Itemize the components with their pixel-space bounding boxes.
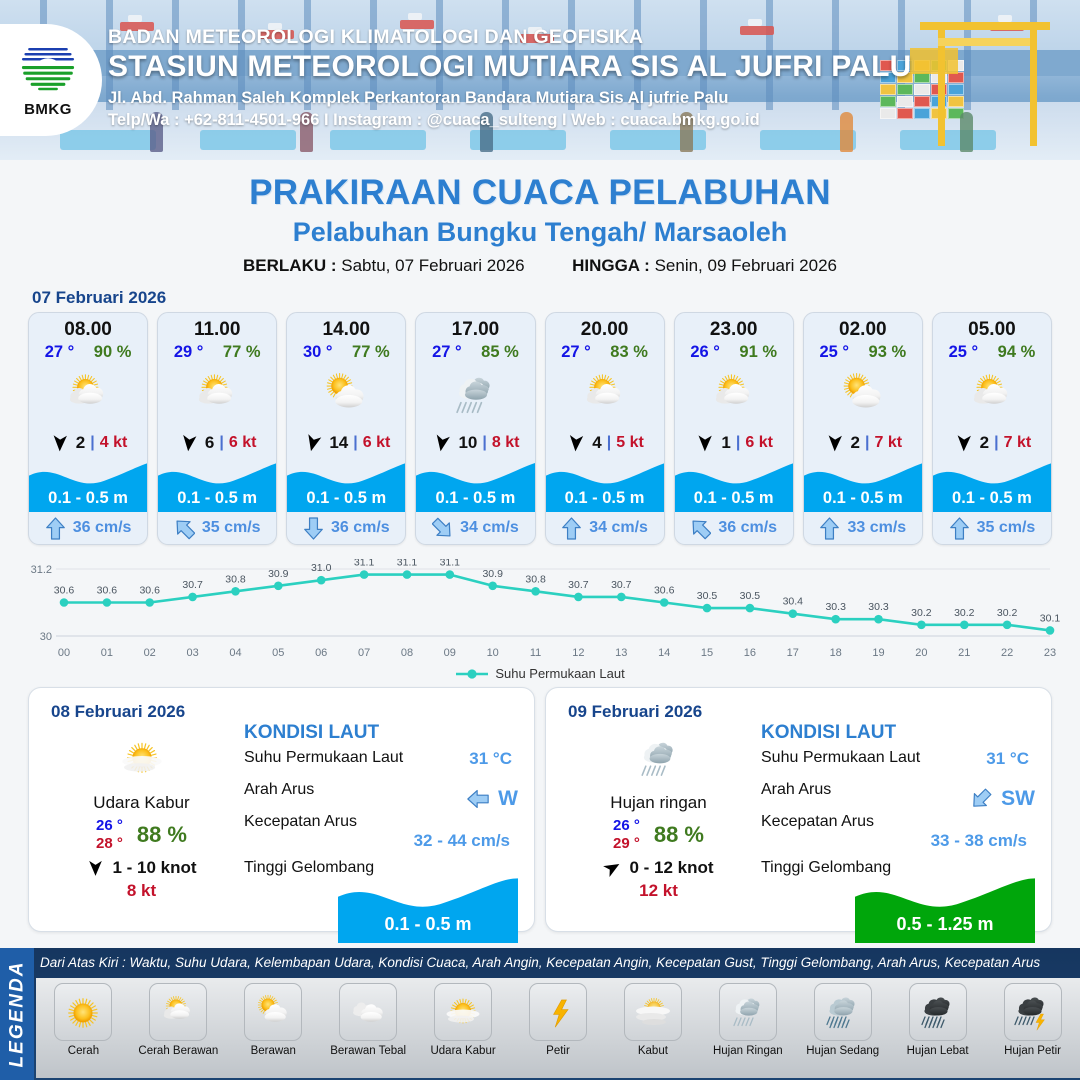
card-wind-direction-value: 6 [205, 433, 214, 453]
card-humidity: 77 % [352, 343, 390, 362]
legend-icon-box [1004, 983, 1062, 1041]
card-humidity: 91 % [739, 343, 777, 362]
svg-text:30.7: 30.7 [568, 579, 589, 591]
legend-icon-box [529, 983, 587, 1041]
current-direction-arrow-icon [819, 517, 840, 540]
svg-text:30.6: 30.6 [139, 585, 160, 597]
card-temp-hum-row: 26 ° 91 % [675, 341, 793, 362]
panel-current-direction-label: Arah Arus [244, 781, 314, 798]
card-current-speed: 36 cm/s [73, 519, 132, 537]
weather-icon-berawan [831, 363, 895, 427]
legend-item: Hujan Ringan [700, 978, 795, 1078]
card-separator: | [736, 434, 740, 452]
card-separator: | [607, 434, 611, 452]
weather-icon-cerah [58, 987, 108, 1037]
svg-text:31.0: 31.0 [311, 562, 332, 574]
weather-icon-petir [533, 987, 583, 1037]
card-time: 17.00 [416, 313, 534, 341]
card-gust-speed: 8 kt [492, 434, 520, 452]
card-current-speed: 34 cm/s [460, 519, 519, 537]
svg-text:10: 10 [487, 647, 499, 659]
legend-item-label: Cerah Berawan [138, 1045, 218, 1057]
panel-wind-row: 0 - 12 knot [556, 858, 761, 878]
card-wave-block: 0.1 - 0.5 m [675, 460, 793, 512]
panel-wave-value: 0.5 - 1.25 m [855, 914, 1035, 935]
panel-wave-block: 0.1 - 0.5 m [338, 877, 518, 943]
panel-wave-label: Tinggi Gelombang [761, 859, 891, 876]
card-wind-row: 2 | 7 kt [933, 428, 1051, 458]
svg-text:31.1: 31.1 [440, 559, 461, 569]
panel-sst-value: 31 °C [986, 749, 1029, 769]
chart-legend-label: Suhu Permukaan Laut [495, 666, 624, 681]
current-direction-arrow-icon [303, 517, 324, 540]
legend-side-tab: LEGENDA [0, 948, 34, 1080]
panel-sst-row: Suhu Permukaan Laut 31 °C [761, 749, 1041, 781]
page-title: PRAKIRAAN CUACA PELABUHAN [0, 173, 1080, 213]
legend-item: Hujan Lebat [890, 978, 985, 1078]
svg-text:30.5: 30.5 [740, 590, 761, 602]
legend-icon-box [244, 983, 302, 1041]
legend-item-label: Berawan Tebal [330, 1045, 406, 1057]
card-weather-icon [29, 362, 147, 428]
panel-humidity: 88 % [137, 822, 187, 848]
card-wind-row: 2 | 4 kt [29, 428, 147, 458]
panel-current-direction-row: Arah Arus W [244, 781, 524, 813]
panel-temp-max: 29 ° [613, 835, 640, 853]
legend-bar: LEGENDA Dari Atas Kiri : Waktu, Suhu Uda… [0, 948, 1080, 1080]
legend-icon-box [624, 983, 682, 1041]
panel-wind-row: 1 - 10 knot [39, 858, 244, 878]
card-wind-direction-value: 1 [721, 433, 730, 453]
card-wind-direction-value: 2 [851, 433, 860, 453]
card-wave-height: 0.1 - 0.5 m [158, 489, 276, 508]
card-wave-block: 0.1 - 0.5 m [933, 460, 1051, 512]
panel-condition: Hujan ringan [556, 793, 761, 813]
wind-direction-arrow-icon [824, 433, 846, 453]
card-wave-block: 0.1 - 0.5 m [804, 460, 922, 512]
card-current-row: 35 cm/s [933, 512, 1051, 544]
card-wind-direction-value: 14 [329, 433, 348, 453]
card-humidity: 94 % [998, 343, 1036, 362]
legend-icon-box [719, 983, 777, 1041]
daily-forecast-panel[interactable]: 08 Februari 2026 Udara Kabur 26 ° [28, 687, 535, 932]
hingga-label: HINGGA : [572, 256, 650, 275]
card-wind-row: 1 | 6 kt [675, 428, 793, 458]
card-wind-direction-value: 2 [980, 433, 989, 453]
panel-sea-title: KONDISI LAUT [244, 722, 524, 744]
legend-icon-box [54, 983, 112, 1041]
wind-direction-arrow-icon [431, 433, 453, 453]
card-time: 20.00 [546, 313, 664, 341]
panel-current-direction-value: SW [1001, 787, 1035, 811]
card-wave-block: 0.1 - 0.5 m [416, 460, 534, 512]
card-temp-hum-row: 27 ° 90 % [29, 341, 147, 362]
current-direction-arrow-icon [967, 788, 995, 810]
weather-icon-cerah-berawan [185, 363, 249, 427]
panel-wave-label: Tinggi Gelombang [244, 859, 374, 876]
svg-text:01: 01 [101, 647, 113, 659]
svg-text:06: 06 [315, 647, 327, 659]
card-wind-row: 6 | 6 kt [158, 428, 276, 458]
card-wave-block: 0.1 - 0.5 m [29, 460, 147, 512]
card-wave-block: 0.1 - 0.5 m [546, 460, 664, 512]
card-humidity: 85 % [481, 343, 519, 362]
hourly-forecast-card[interactable]: 11.00 29 ° 77 % [157, 312, 277, 545]
validity-row: BERLAKU : Sabtu, 07 Februari 2026 HINGGA… [0, 256, 1080, 276]
wind-direction-arrow-icon [603, 858, 622, 878]
card-weather-icon [287, 362, 405, 428]
weather-icon-hujan-ringan [629, 729, 689, 789]
card-wind-row: 2 | 7 kt [804, 428, 922, 458]
panel-sst-row: Suhu Permukaan Laut 31 °C [244, 749, 524, 781]
panel-left-column: Udara Kabur 26 ° 28 ° 88 % 1 - 10 knot 8… [39, 728, 244, 901]
panel-temp-hum-row: 26 ° 29 ° 88 % [556, 817, 761, 852]
card-temperature: 29 ° [174, 343, 204, 362]
card-current-speed: 35 cm/s [202, 519, 261, 537]
legend-icon-box [909, 983, 967, 1041]
card-gust-speed: 4 kt [100, 434, 128, 452]
weather-icon-berawan [248, 987, 298, 1037]
panel-temp-hum-row: 26 ° 28 ° 88 % [39, 817, 244, 852]
hourly-forecast-card[interactable]: 08.00 27 ° 90 % [28, 312, 148, 545]
svg-text:30.3: 30.3 [868, 601, 889, 613]
card-wave-height: 0.1 - 0.5 m [933, 489, 1051, 508]
panel-current-direction-value-group: W [464, 787, 518, 811]
svg-text:31.1: 31.1 [397, 559, 418, 569]
panel-temp-max: 28 ° [96, 835, 123, 853]
card-wave-height: 0.1 - 0.5 m [416, 489, 534, 508]
weather-icon-hujan-petir [1008, 987, 1058, 1037]
sst-chart: 31.23030.60030.60130.60230.70330.80430.9… [18, 559, 1062, 664]
svg-text:21: 21 [958, 647, 970, 659]
legend-items-strip: Cerah Cerah Berawan [36, 978, 1080, 1078]
card-wind-direction-value: 2 [76, 433, 85, 453]
weather-icon-cerah-berawan [153, 987, 203, 1037]
weather-icon-berawan [314, 363, 378, 427]
svg-text:30.8: 30.8 [525, 573, 546, 585]
weather-icon-cerah-berawan [573, 363, 637, 427]
panel-sst-value: 31 °C [469, 749, 512, 769]
panel-sst-label: Suhu Permukaan Laut [761, 749, 920, 766]
svg-text:17: 17 [787, 647, 799, 659]
legend-item: Udara Kabur [416, 978, 511, 1078]
title-block: PRAKIRAAN CUACA PELABUHAN Pelabuhan Bung… [0, 160, 1080, 276]
card-temperature: 25 ° [819, 343, 849, 362]
legend-item: Cerah Berawan [131, 978, 226, 1078]
infographic-page: BMKG BADAN METEOROLOGI KLIMATOLOGI DAN G… [0, 0, 1080, 1080]
hourly-forecast-card[interactable]: 23.00 26 ° 91 % [674, 312, 794, 545]
card-current-row: 35 cm/s [158, 512, 276, 544]
svg-text:15: 15 [701, 647, 713, 659]
legend-item: Cerah [36, 978, 131, 1078]
weather-icon-hujan-ringan [443, 363, 507, 427]
page-subtitle: Pelabuhan Bungku Tengah/ Marsaoleh [0, 217, 1080, 248]
card-separator: | [90, 434, 94, 452]
svg-text:30.7: 30.7 [182, 579, 203, 591]
card-temperature: 27 ° [45, 343, 75, 362]
svg-text:23: 23 [1044, 647, 1056, 659]
card-wave-height: 0.1 - 0.5 m [287, 489, 405, 508]
card-wave-height: 0.1 - 0.5 m [546, 489, 664, 508]
panel-wind-range: 0 - 12 knot [629, 858, 713, 878]
svg-text:30.9: 30.9 [482, 568, 503, 580]
card-separator: | [353, 434, 357, 452]
legend-item: Berawan Tebal [321, 978, 416, 1078]
card-weather-icon [933, 362, 1051, 428]
panel-current-direction-value-group: SW [967, 787, 1035, 811]
legend-item: Hujan Sedang [795, 978, 890, 1078]
card-temp-hum-row: 30 ° 77 % [287, 341, 405, 362]
svg-text:31.1: 31.1 [354, 559, 375, 569]
legend-icon-box [434, 983, 492, 1041]
card-time: 23.00 [675, 313, 793, 341]
card-current-speed: 33 cm/s [847, 519, 906, 537]
wind-direction-arrow-icon [86, 858, 105, 878]
daily-forecast-row: 08 Februari 2026 Udara Kabur 26 ° [0, 681, 1080, 932]
card-wind-direction-value: 4 [592, 433, 601, 453]
weather-icon-cerah-berawan [960, 363, 1024, 427]
wind-direction-arrow-icon [49, 433, 71, 453]
card-current-speed: 36 cm/s [331, 519, 390, 537]
station-contact: Telp/Wa : +62-811-4501-966 I Instagram :… [108, 111, 911, 130]
card-separator: | [994, 434, 998, 452]
weather-icon-cerah-berawan [702, 363, 766, 427]
card-time: 08.00 [29, 313, 147, 341]
svg-text:04: 04 [229, 647, 241, 659]
svg-text:18: 18 [830, 647, 842, 659]
card-wave-height: 0.1 - 0.5 m [804, 489, 922, 508]
card-gust-speed: 6 kt [363, 434, 391, 452]
card-temp-hum-row: 25 ° 93 % [804, 341, 922, 362]
berlaku-value: Sabtu, 07 Februari 2026 [341, 256, 524, 275]
page-header: BMKG BADAN METEOROLOGI KLIMATOLOGI DAN G… [0, 0, 1080, 160]
chart-legend: Suhu Permukaan Laut [0, 666, 1080, 681]
agency-name: BADAN METEOROLOGI KLIMATOLOGI DAN GEOFIS… [108, 26, 911, 49]
hourly-forecast-row: 08.00 27 ° 90 % [0, 312, 1080, 545]
panel-condition: Udara Kabur [39, 793, 244, 813]
card-separator: | [865, 434, 869, 452]
current-direction-arrow-icon [432, 517, 453, 540]
current-direction-arrow-icon [561, 517, 582, 540]
current-direction-arrow-icon [464, 788, 492, 810]
card-temperature: 30 ° [303, 343, 333, 362]
wind-direction-arrow-icon [565, 433, 587, 453]
card-temp-hum-row: 25 ° 94 % [933, 341, 1051, 362]
sst-chart-svg: 31.23030.60030.60130.60230.70330.80430.9… [18, 559, 1062, 664]
hourly-forecast-card[interactable]: 17.00 27 ° 85 % [415, 312, 535, 545]
svg-text:30.7: 30.7 [611, 579, 632, 591]
card-temperature: 27 ° [561, 343, 591, 362]
card-wave-height: 0.1 - 0.5 m [29, 489, 147, 508]
panel-sea-column: KONDISI LAUT Suhu Permukaan Laut 31 °C A… [761, 722, 1041, 891]
svg-text:20: 20 [915, 647, 927, 659]
weather-icon-udara-kabur [112, 729, 172, 789]
svg-text:30.8: 30.8 [225, 573, 246, 585]
panel-weather-icon [39, 728, 244, 790]
card-temperature: 25 ° [949, 343, 979, 362]
panel-sea-title: KONDISI LAUT [761, 722, 1041, 744]
current-direction-arrow-icon [949, 517, 970, 540]
daily-forecast-panel[interactable]: 09 Februari 2026 [545, 687, 1052, 932]
legend-item-label: Petir [546, 1045, 570, 1057]
svg-text:30.6: 30.6 [54, 585, 75, 597]
panel-current-speed-row: Kecepatan Arus 32 - 44 cm/s [244, 813, 524, 845]
panel-wave-row: Tinggi Gelombang 0.1 - 0.5 m [244, 859, 524, 891]
hourly-forecast-card[interactable]: 02.00 25 ° 93 % [803, 312, 923, 545]
legend-item-label: Hujan Lebat [907, 1045, 969, 1057]
card-gust-speed: 7 kt [1004, 434, 1032, 452]
panel-weather-icon [556, 728, 761, 790]
weather-icon-udara-kabur [438, 987, 488, 1037]
svg-text:14: 14 [658, 647, 670, 659]
card-wind-row: 4 | 5 kt [546, 428, 664, 458]
current-direction-arrow-icon [690, 517, 711, 540]
card-current-speed: 35 cm/s [977, 519, 1036, 537]
panel-wave-row: Tinggi Gelombang 0.5 - 1.25 m [761, 859, 1041, 891]
wind-direction-arrow-icon [178, 433, 200, 453]
svg-text:19: 19 [872, 647, 884, 659]
panel-current-speed-value: 32 - 44 cm/s [414, 831, 510, 851]
legend-note: Dari Atas Kiri : Waktu, Suhu Udara, Kele… [40, 955, 1076, 970]
legend-item-label: Udara Kabur [430, 1045, 495, 1057]
panel-temp-min: 26 ° [613, 817, 640, 835]
card-humidity: 77 % [223, 343, 261, 362]
svg-text:30.6: 30.6 [654, 585, 675, 597]
svg-text:09: 09 [444, 647, 456, 659]
card-weather-icon [804, 362, 922, 428]
station-address: Jl. Abd. Rahman Saleh Komplek Perkantora… [108, 89, 911, 108]
card-current-row: 34 cm/s [546, 512, 664, 544]
svg-text:08: 08 [401, 647, 413, 659]
card-temp-hum-row: 29 ° 77 % [158, 341, 276, 362]
svg-text:30.2: 30.2 [954, 607, 975, 619]
panel-temp-column: 26 ° 29 ° [613, 817, 640, 852]
station-name: STASIUN METEOROLOGI MUTIARA SIS AL JUFRI… [108, 50, 911, 84]
svg-text:22: 22 [1001, 647, 1013, 659]
card-wind-row: 14 | 6 kt [287, 428, 405, 458]
panel-humidity: 88 % [654, 822, 704, 848]
legend-icon-box [149, 983, 207, 1041]
panel-temp-column: 26 ° 28 ° [96, 817, 123, 852]
svg-text:30.4: 30.4 [783, 596, 804, 608]
card-temp-hum-row: 27 ° 83 % [546, 341, 664, 362]
legend-item-label: Berawan [251, 1045, 296, 1057]
panel-sea-column: KONDISI LAUT Suhu Permukaan Laut 31 °C A… [244, 722, 524, 891]
hourly-forecast-card[interactable]: 14.00 30 ° 77 % [286, 312, 406, 545]
card-temp-hum-row: 27 ° 85 % [416, 341, 534, 362]
card-humidity: 90 % [94, 343, 132, 362]
legend-item-label: Cerah [68, 1045, 99, 1057]
header-text-block: BADAN METEOROLOGI KLIMATOLOGI DAN GEOFIS… [108, 26, 911, 130]
svg-text:30.9: 30.9 [268, 568, 289, 580]
svg-text:30.5: 30.5 [697, 590, 718, 602]
svg-text:30.2: 30.2 [997, 607, 1018, 619]
current-direction-arrow-icon [45, 517, 66, 540]
card-temperature: 27 ° [432, 343, 462, 362]
weather-icon-kabut [628, 987, 678, 1037]
berlaku-label: BERLAKU : [243, 256, 337, 275]
legend-side-label: LEGENDA [6, 961, 28, 1068]
card-humidity: 93 % [869, 343, 907, 362]
wind-direction-arrow-icon [953, 433, 975, 453]
card-separator: | [482, 434, 486, 452]
svg-text:02: 02 [144, 647, 156, 659]
wind-direction-arrow-icon [694, 433, 716, 453]
panel-current-direction-row: Arah Arus SW [761, 781, 1041, 813]
bmkg-emblem-icon [17, 42, 79, 100]
card-weather-icon [158, 362, 276, 428]
weather-icon-hujan-ringan [723, 987, 773, 1037]
card-current-row: 36 cm/s [675, 512, 793, 544]
card-temperature: 26 ° [690, 343, 720, 362]
legend-icon-box [814, 983, 872, 1041]
svg-text:07: 07 [358, 647, 370, 659]
card-gust-speed: 7 kt [875, 434, 903, 452]
legend-item: Hujan Petir [985, 978, 1080, 1078]
legend-item: Kabut [605, 978, 700, 1078]
weather-icon-hujan-sedang [818, 987, 868, 1037]
panel-sst-label: Suhu Permukaan Laut [244, 749, 403, 766]
card-wave-block: 0.1 - 0.5 m [158, 460, 276, 512]
card-separator: | [219, 434, 223, 452]
svg-text:05: 05 [272, 647, 284, 659]
card-wind-row: 10 | 8 kt [416, 428, 534, 458]
legend-icon-box [339, 983, 397, 1041]
panel-current-speed-row: Kecepatan Arus 33 - 38 cm/s [761, 813, 1041, 845]
panel-current-direction-label: Arah Arus [761, 781, 831, 798]
card-humidity: 83 % [610, 343, 648, 362]
legend-item-label: Hujan Ringan [713, 1045, 783, 1057]
legend-item-label: Kabut [638, 1045, 668, 1057]
legend-item: Petir [511, 978, 606, 1078]
svg-text:30: 30 [40, 631, 52, 643]
svg-text:00: 00 [58, 647, 70, 659]
weather-icon-berawan-tebal [343, 987, 393, 1037]
svg-text:03: 03 [186, 647, 198, 659]
svg-text:11: 11 [530, 647, 541, 659]
weather-icon-cerah-berawan [56, 363, 120, 427]
svg-text:16: 16 [744, 647, 756, 659]
card-current-speed: 34 cm/s [589, 519, 648, 537]
card-current-row: 36 cm/s [29, 512, 147, 544]
svg-text:31.2: 31.2 [31, 564, 52, 576]
card-time: 02.00 [804, 313, 922, 341]
wind-direction-arrow-icon [302, 433, 324, 453]
card-weather-icon [546, 362, 664, 428]
card-gust-speed: 5 kt [616, 434, 644, 452]
card-time: 11.00 [158, 313, 276, 341]
panel-current-speed-label: Kecepatan Arus [244, 813, 357, 830]
card-time: 05.00 [933, 313, 1051, 341]
panel-wave-block: 0.5 - 1.25 m [855, 877, 1035, 943]
hourly-forecast-card[interactable]: 05.00 25 ° 94 % [932, 312, 1052, 545]
card-weather-icon [416, 362, 534, 428]
card-weather-icon [675, 362, 793, 428]
svg-text:30.6: 30.6 [97, 585, 118, 597]
card-current-row: 34 cm/s [416, 512, 534, 544]
card-current-row: 33 cm/s [804, 512, 922, 544]
svg-text:30.3: 30.3 [825, 601, 846, 613]
card-current-speed: 36 cm/s [718, 519, 777, 537]
hourly-day-label: 07 Februari 2026 [32, 288, 1080, 308]
panel-gust-speed: 8 kt [39, 881, 244, 901]
hourly-forecast-card[interactable]: 20.00 27 ° 83 % [545, 312, 665, 545]
card-gust-speed: 6 kt [745, 434, 773, 452]
panel-date: 08 Februari 2026 [51, 702, 185, 722]
panel-current-speed-label: Kecepatan Arus [761, 813, 874, 830]
legend-item-label: Hujan Sedang [806, 1045, 879, 1057]
card-wave-height: 0.1 - 0.5 m [675, 489, 793, 508]
